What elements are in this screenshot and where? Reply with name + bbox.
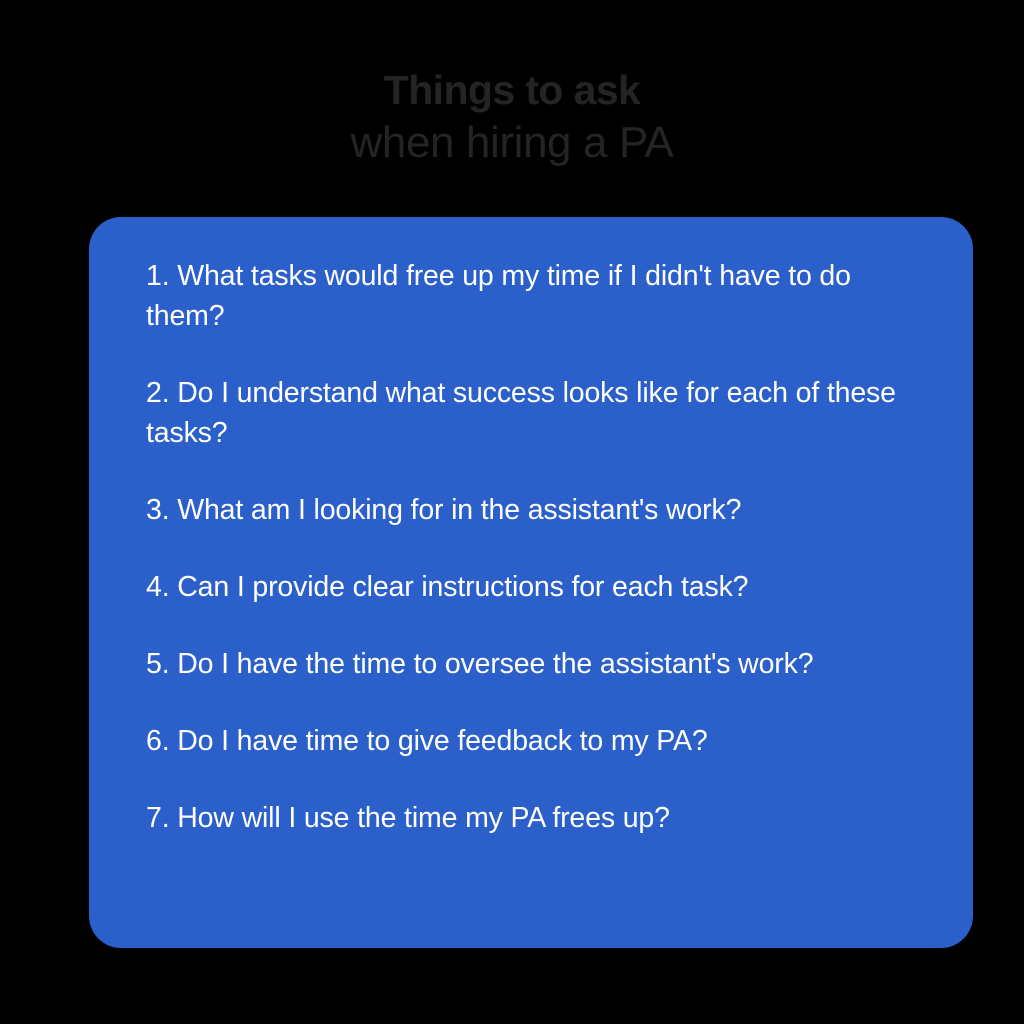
list-item: 2. Do I understand what success looks li…	[146, 373, 906, 453]
list-item: 1. What tasks would free up my time if I…	[146, 256, 906, 336]
poster-root: Things to ask when hiring a PA 1. What t…	[0, 0, 1024, 1024]
questions-list: 1. What tasks would free up my time if I…	[146, 256, 913, 838]
list-item: 6. Do I have time to give feedback to my…	[146, 721, 906, 761]
list-item: 3. What am I looking for in the assistan…	[146, 490, 906, 530]
list-item: 7. How will I use the time my PA frees u…	[146, 798, 906, 838]
page-title-line-1: Things to ask	[0, 66, 1024, 114]
page-title-line-2: when hiring a PA	[0, 116, 1024, 170]
questions-card: 1. What tasks would free up my time if I…	[89, 217, 973, 948]
list-item: 5. Do I have the time to oversee the ass…	[146, 644, 906, 684]
list-item: 4. Can I provide clear instructions for …	[146, 567, 906, 607]
page-title: Things to ask when hiring a PA	[0, 66, 1024, 170]
